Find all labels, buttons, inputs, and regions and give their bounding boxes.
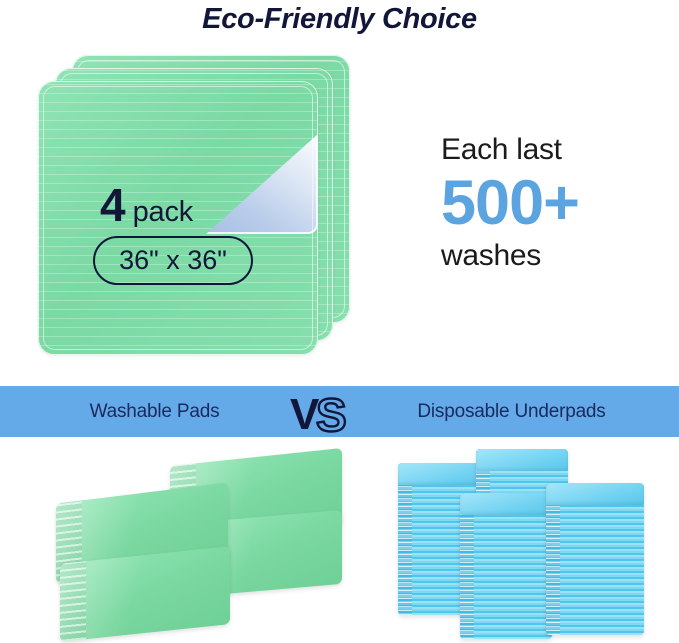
size-badge-text: 36" x 36" (119, 245, 227, 276)
pack-count-word: pack (133, 189, 193, 235)
comparison-band: Washable Pads V S Disposable Underpads (0, 386, 679, 437)
waterproof-backing-reveal (206, 134, 318, 234)
fold-edge-highlight (206, 134, 318, 234)
comparison-left-label: Washable Pads (22, 401, 288, 423)
stacked-disposable-underpads-photo (398, 449, 653, 639)
comparison-right-label: Disposable Underpads (366, 401, 658, 423)
blue-stack-front-right (546, 483, 644, 635)
vs-badge-icon: V S (288, 386, 366, 437)
folded-washable-pads-photo (52, 455, 342, 635)
green-pad-lower-front (60, 546, 230, 642)
pile-side-edges (546, 483, 560, 635)
pad-pile (546, 483, 644, 635)
pile-top-pad (476, 449, 568, 471)
blue-stack-front-left (460, 493, 552, 639)
durability-claim: Each last 500+ washes (441, 131, 671, 275)
page-title: Eco-Friendly Choice (0, 2, 679, 36)
infographic-canvas: Eco-Friendly Choice 4 pack 36" x 36" Eac… (0, 0, 679, 643)
claim-line-top: Each last (441, 131, 671, 169)
claim-wash-count: 500+ (441, 169, 671, 237)
pile-side-edges (398, 463, 412, 615)
product-comparison-photos (0, 437, 679, 643)
pack-count-label: 4 pack (100, 182, 193, 235)
pile-top-pad (546, 483, 644, 505)
claim-line-bottom: washes (441, 237, 671, 275)
svg-text:S: S (316, 389, 347, 437)
pile-top-pad (460, 493, 552, 515)
pile-top-pad (398, 463, 486, 485)
size-badge: 36" x 36" (93, 236, 253, 285)
folded-corner (206, 134, 318, 234)
pack-count-number: 4 (100, 182, 125, 228)
washable-pad-stack-illustration (38, 55, 350, 355)
fabric-sheen (60, 546, 230, 642)
